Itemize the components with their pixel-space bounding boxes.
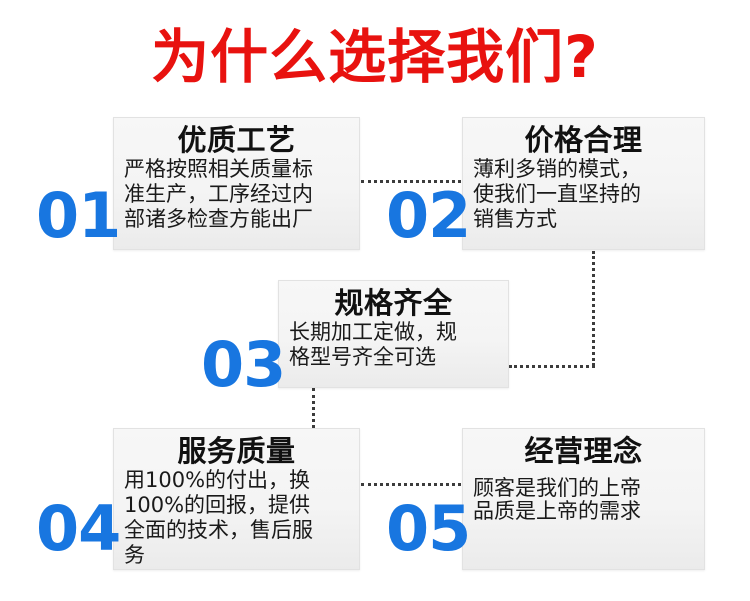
feature-card-05[interactable]: 经营理念 顾客是我们的上帝 品质是上帝的需求 <box>462 428 705 570</box>
feature-card-04-body-line: 100%的回报，提供 <box>124 493 349 518</box>
feature-card-04-heading: 服务质量 <box>124 435 349 467</box>
feature-card-01-body-line: 严格按照相关质量标 <box>124 157 349 182</box>
connector-04-to-05 <box>361 483 461 486</box>
feature-card-01-body-line: 部诸多检查方能出厂 <box>124 207 349 232</box>
feature-card-04-body-line: 全面的技术，售后服 <box>124 518 349 543</box>
feature-card-01[interactable]: 优质工艺 严格按照相关质量标 准生产，工序经过内 部诸多检查方能出厂 <box>113 117 360 250</box>
feature-card-05-body-line: 顾客是我们的上帝 <box>473 477 694 499</box>
feature-card-01-body: 严格按照相关质量标 准生产，工序经过内 部诸多检查方能出厂 <box>124 157 349 231</box>
feature-card-03-body: 长期加工定做，规 格型号齐全可选 <box>289 320 498 370</box>
feature-card-02-body-line: 销售方式 <box>473 207 694 232</box>
page-title: 为什么选择我们? <box>0 26 750 90</box>
feature-card-02-heading: 价格合理 <box>473 124 694 156</box>
feature-card-04-body-line: 务 <box>124 543 349 568</box>
feature-card-05-heading: 经营理念 <box>473 435 694 467</box>
feature-card-04-number: 04 <box>36 498 120 560</box>
feature-card-02-body-line: 薄利多销的模式， <box>473 157 694 182</box>
feature-card-02-body-line: 使我们一直坚持的 <box>473 182 694 207</box>
connector-03-to-04 <box>312 388 315 428</box>
feature-card-05-number: 05 <box>386 498 470 560</box>
feature-card-05-body: 顾客是我们的上帝 品质是上帝的需求 <box>473 477 694 522</box>
feature-card-04[interactable]: 服务质量 用100%的付出，换 100%的回报，提供 全面的技术，售后服 务 <box>113 428 360 570</box>
feature-card-04-body: 用100%的付出，换 100%的回报，提供 全面的技术，售后服 务 <box>124 468 349 567</box>
feature-card-03-body-line: 格型号齐全可选 <box>289 345 498 370</box>
feature-card-02-body: 薄利多销的模式， 使我们一直坚持的 销售方式 <box>473 157 694 231</box>
feature-card-02-number: 02 <box>386 185 470 247</box>
feature-card-03-number: 03 <box>201 334 285 396</box>
feature-card-01-heading: 优质工艺 <box>124 124 349 156</box>
feature-card-01-number: 01 <box>36 185 120 247</box>
feature-card-02[interactable]: 价格合理 薄利多销的模式， 使我们一直坚持的 销售方式 <box>462 117 705 250</box>
feature-card-03-body-line: 长期加工定做，规 <box>289 320 498 345</box>
infographic-root: 为什么选择我们? 优质工艺 严格按照相关质量标 准生产，工序经过内 部诸多检查方… <box>0 0 750 601</box>
feature-card-03[interactable]: 规格齐全 长期加工定做，规 格型号齐全可选 <box>278 280 509 388</box>
feature-card-05-body-line: 品质是上帝的需求 <box>473 500 694 522</box>
feature-card-01-body-line: 准生产，工序经过内 <box>124 182 349 207</box>
feature-card-03-heading: 规格齐全 <box>289 287 498 319</box>
connector-02-to-03-vertical <box>592 251 595 366</box>
connector-02-to-03-horizontal <box>509 365 595 368</box>
feature-card-04-body-line: 用100%的付出，换 <box>124 468 349 493</box>
